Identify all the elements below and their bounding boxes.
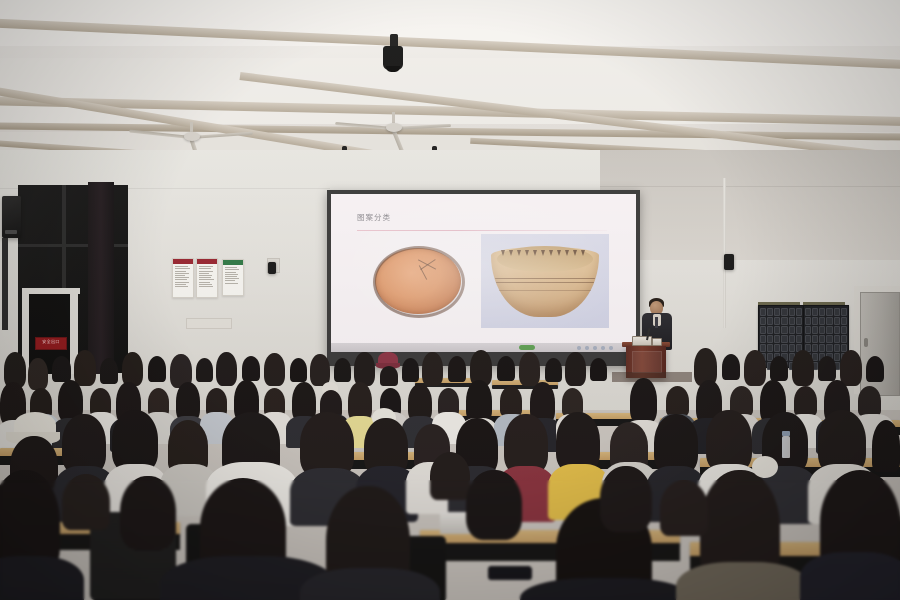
slide-title: 图案分类 bbox=[357, 212, 391, 223]
door-handle[interactable] bbox=[864, 338, 868, 347]
taskbar-icon-2[interactable] bbox=[585, 346, 589, 350]
slide-title-rule bbox=[357, 230, 607, 231]
speaker-stand-left bbox=[2, 238, 8, 330]
podium-laptop[interactable] bbox=[632, 336, 652, 346]
lecture-hall-photo: 安全出口 bbox=[0, 0, 900, 600]
water-bottle-cap-row-c bbox=[782, 431, 790, 436]
water-bottle-row-c bbox=[782, 436, 790, 458]
exit-sign[interactable]: 安全出口 bbox=[35, 337, 67, 350]
taskbar-icon-4[interactable] bbox=[601, 346, 605, 350]
taskbar-icon-3[interactable] bbox=[593, 346, 597, 350]
presenter-and-podium bbox=[616, 298, 688, 378]
wall-poster-red-2 bbox=[196, 258, 218, 298]
wall-mounted-device-left bbox=[268, 262, 276, 274]
podium-base-shadow bbox=[612, 372, 692, 382]
projection-screen-frame: 图案分类 bbox=[327, 190, 640, 366]
projection-screen[interactable]: 图案分类 bbox=[331, 194, 636, 352]
ceiling-fan-1 bbox=[128, 122, 258, 150]
wall-mounted-device-right bbox=[724, 254, 734, 270]
podium-control-panel[interactable] bbox=[652, 338, 662, 346]
upper-right-wall bbox=[600, 150, 900, 260]
ceiling-fan-2 bbox=[330, 112, 460, 140]
pottery-zigzag-band bbox=[501, 250, 589, 260]
phone-pocket-panel-1 bbox=[758, 302, 800, 364]
wall-conduit bbox=[723, 178, 726, 328]
wall-poster-red-1 bbox=[172, 258, 194, 298]
slide-image-painted-basin bbox=[481, 234, 609, 328]
taskbar-icon-1[interactable] bbox=[577, 346, 581, 350]
taskbar-icon-5[interactable] bbox=[609, 346, 613, 350]
wall-speaker-left bbox=[2, 196, 21, 238]
presenter-tie bbox=[655, 317, 658, 328]
wall-seam bbox=[600, 186, 900, 187]
ceiling-spotlight bbox=[381, 34, 407, 76]
exit-sign-text: 安全出口 bbox=[36, 338, 66, 345]
taskbar-green-icon[interactable] bbox=[519, 345, 535, 350]
curtain bbox=[88, 182, 114, 374]
bag-on-desk bbox=[488, 566, 532, 580]
slide-image-bowl-top-view bbox=[371, 242, 463, 320]
wall-plaque bbox=[186, 318, 232, 329]
wall-poster-green bbox=[222, 259, 244, 296]
